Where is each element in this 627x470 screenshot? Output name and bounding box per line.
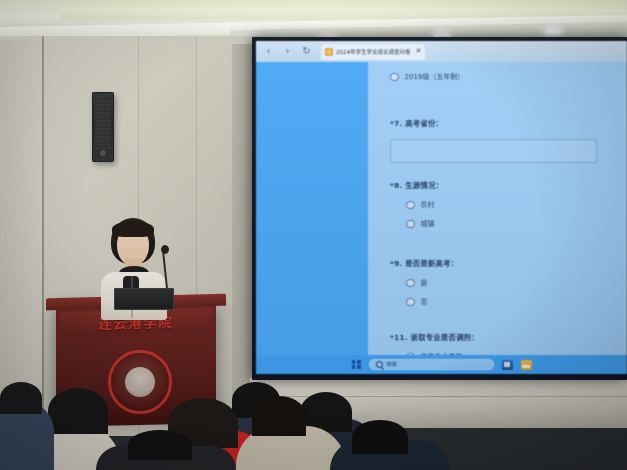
search-placeholder: 搜索	[387, 361, 397, 368]
speaker-grill	[95, 96, 111, 149]
laptop	[114, 288, 174, 310]
wall-panel-left	[0, 40, 42, 436]
radio-icon[interactable]	[406, 201, 415, 210]
refresh-icon[interactable]: ↻	[300, 45, 313, 58]
radio-option-label: 农村	[421, 200, 435, 210]
wall-trim-line	[250, 396, 627, 397]
forward-arrow-icon[interactable]: ›	[281, 45, 294, 58]
radio-option[interactable]: 否	[406, 297, 458, 307]
file-explorer-icon[interactable]	[502, 360, 513, 370]
radio-option[interactable]: 是	[406, 278, 458, 288]
speaker-driver	[100, 150, 106, 156]
search-icon	[376, 361, 383, 368]
audience-head	[48, 388, 108, 434]
back-arrow-icon[interactable]: ‹	[262, 45, 275, 58]
school-emblem	[108, 350, 172, 414]
question-7: *7. 高考省份：	[390, 118, 597, 163]
question-11-label: *11. 录取专业是否调剂：	[390, 332, 479, 343]
document-favicon	[325, 48, 333, 56]
survey-form: 2019级（五年制） *7. 高考省份： *8. 生源情况： 农村	[368, 62, 627, 374]
radio-option-label: 城镇	[421, 219, 435, 229]
radio-icon[interactable]	[406, 298, 415, 307]
radio-option-label: 是	[421, 278, 428, 288]
presenter-hair-front	[112, 221, 154, 237]
radio-icon[interactable]	[390, 73, 399, 82]
radio-option[interactable]: 2019级（五年制）	[390, 72, 464, 82]
ceiling-downlight-icon	[545, 29, 561, 35]
windows-start-icon[interactable]	[352, 360, 361, 369]
province-input[interactable]	[390, 139, 597, 163]
question-8: *8. 生源情况： 农村 城镇	[390, 180, 443, 229]
audience-head	[352, 420, 408, 454]
windows-taskbar: 搜索	[256, 355, 627, 374]
web-page: 2019级（五年制） *7. 高考省份： *8. 生源情况： 农村	[256, 62, 627, 374]
question-9: *9. 是否是新高考： 是 否	[390, 258, 458, 307]
radio-option[interactable]: 农村	[406, 200, 443, 210]
browser-tab[interactable]: 2024年学生学业成长调查问卷 ✕	[321, 44, 425, 60]
audience-head	[0, 382, 42, 414]
browser-tab-title: 2024年学生学业成长调查问卷	[336, 48, 411, 56]
search-input[interactable]: 搜索	[369, 359, 494, 370]
radio-option-label: 否	[421, 297, 428, 307]
screenshot-root: ‹ › ↻ 2024年学生学业成长调查问卷 ✕ 2019级（五年制）	[0, 0, 627, 470]
radio-icon[interactable]	[406, 220, 415, 229]
audience-head	[128, 430, 192, 460]
question-8-label: *8. 生源情况：	[390, 180, 443, 191]
question-6-tail: 2019级（五年制）	[390, 72, 464, 82]
microphone-icon	[161, 245, 169, 254]
question-7-label: *7. 高考省份：	[390, 118, 597, 129]
radio-option[interactable]: 城镇	[406, 219, 443, 229]
radio-icon[interactable]	[406, 279, 415, 288]
browser-toolbar: ‹ › ↻ 2024年学生学业成长调查问卷 ✕	[256, 41, 627, 62]
wall-seam	[42, 36, 44, 436]
folder-icon[interactable]	[521, 360, 532, 370]
page-left-gutter	[256, 62, 368, 374]
projected-desktop: ‹ › ↻ 2024年学生学业成长调查问卷 ✕ 2019级（五年制）	[256, 41, 627, 374]
wall-speaker-icon	[92, 92, 114, 162]
question-9-label: *9. 是否是新高考：	[390, 258, 458, 269]
close-icon[interactable]: ✕	[416, 48, 422, 55]
audience-head	[252, 396, 306, 436]
emblem-center	[125, 367, 155, 397]
radio-option-label: 2019级（五年制）	[405, 72, 465, 82]
